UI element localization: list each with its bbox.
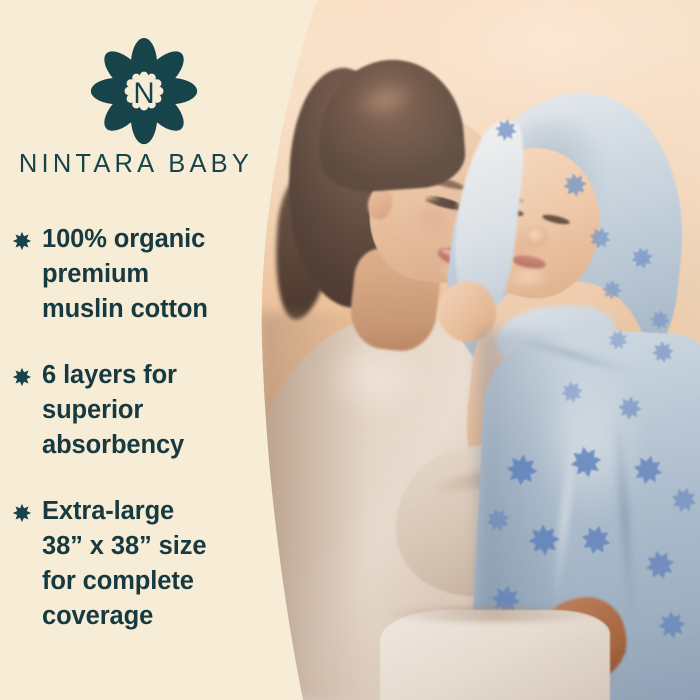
mother-shoulder-highlight: [300, 330, 450, 450]
mother-waistband: [380, 606, 610, 622]
eight-point-star-bullet-icon: [12, 503, 32, 523]
list-item: Extra-large 38” x 38” size for complete …: [12, 494, 280, 634]
baby-nose: [524, 226, 548, 248]
logo-monogram: N: [133, 77, 154, 110]
blanket-star-motif: [648, 308, 673, 333]
feature-list: 100% organic premium muslin cotton 6 lay…: [12, 222, 280, 634]
product-feature-banner: N NINTARA BABY 100% organic premium musl…: [0, 0, 700, 700]
blanket-star-motif: [492, 116, 520, 144]
feature-text: 100% organic premium muslin cotton: [42, 222, 208, 327]
blanket-star-motif: [526, 522, 562, 558]
blanket-star-motif: [560, 170, 589, 199]
eight-petal-flower-monogram-icon: N: [84, 36, 204, 154]
mother-pants: [380, 610, 610, 700]
blanket-star-motif: [616, 394, 645, 423]
list-item: 100% organic premium muslin cotton: [12, 222, 280, 327]
blanket-star-motif: [656, 609, 689, 642]
brand-name: NINTARA BABY: [0, 150, 272, 179]
feature-text: Extra-large 38” x 38” size for complete …: [42, 494, 206, 634]
brand-logo: N: [84, 36, 204, 154]
blanket-star-motif: [600, 278, 623, 301]
blanket-star-motif: [628, 244, 656, 272]
list-item: 6 layers for superior absorbency: [12, 358, 280, 463]
eight-point-star-bullet-icon: [12, 367, 32, 387]
blanket-star-motif: [503, 451, 540, 488]
blanket-star-motif: [629, 451, 667, 489]
blanket-star-motif: [650, 339, 676, 365]
blanket-star-motif: [558, 378, 586, 406]
blanket-star-motif: [566, 442, 605, 481]
feature-text: 6 layers for superior absorbency: [42, 358, 184, 463]
eight-point-star-bullet-icon: [12, 231, 32, 251]
